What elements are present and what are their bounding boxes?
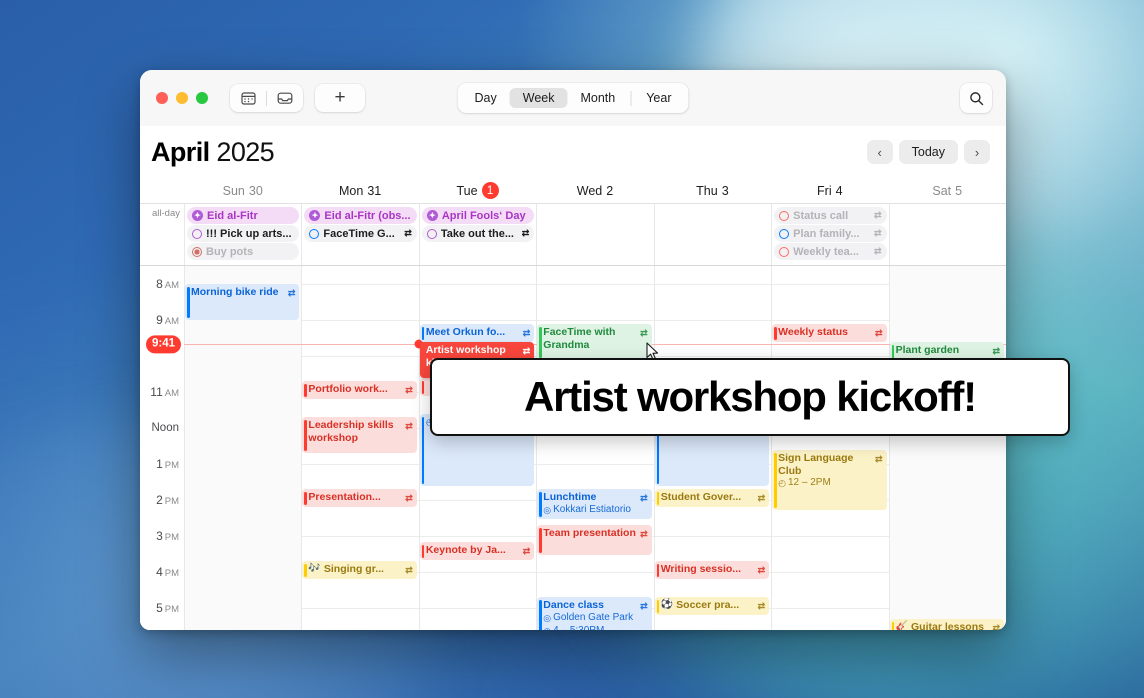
reminder-circle-icon — [427, 229, 437, 239]
event-color-bar — [187, 287, 190, 318]
maximize-button[interactable] — [196, 92, 208, 104]
chip-label: Weekly tea... — [793, 246, 870, 258]
reminder-chip[interactable]: Status call⇄ — [774, 207, 886, 224]
event-title: Weekly status — [778, 326, 872, 339]
calendar-event[interactable]: Leadership skills workshop⇄ — [302, 417, 416, 453]
event-title: Meet Orkun fo... — [426, 326, 520, 339]
new-event-button[interactable]: + — [315, 84, 365, 112]
day-name: Tue — [457, 184, 478, 198]
event-emoji-icon: ⚽ — [661, 599, 673, 612]
calendar-event[interactable]: Dance class⇄◎Golden Gate Park◴4 – 5:30PM — [537, 597, 651, 630]
event-meta: ◎Golden Gate Park — [543, 612, 647, 625]
repeat-icon: ⇄ — [992, 345, 1000, 358]
event-color-bar — [304, 564, 307, 577]
time-grid[interactable]: 8AM9AM11AMNoon1PM2PM3PM4PM5PM 9:41 Morni… — [140, 266, 1006, 630]
chip-label: !!! Pick up arts... — [206, 228, 294, 240]
reminder-circle-icon — [309, 229, 319, 239]
repeat-icon: ⇄ — [404, 228, 412, 239]
window-toolbar: + Day Week Month Year — [140, 70, 1006, 126]
location-pin-icon: ◎ — [543, 504, 551, 517]
calendar-event[interactable]: Writing sessio...⇄ — [655, 561, 769, 579]
chip-label: Status call — [793, 210, 870, 222]
event-title: Dance class — [543, 599, 637, 612]
time-label-meridiem: PM — [165, 604, 179, 615]
page-title: April 2025 — [151, 137, 274, 168]
chip-label: Plan family... — [793, 228, 870, 240]
day-header-fri[interactable]: Fri4 — [771, 178, 888, 203]
day-header-tue[interactable]: Tue1 — [419, 178, 536, 203]
repeat-icon: ⇄ — [523, 327, 531, 340]
day-name: Sun — [223, 184, 245, 198]
clock-icon: ◴ — [543, 625, 551, 631]
event-title: Morning bike ride — [191, 286, 285, 299]
repeat-icon: ⇄ — [992, 622, 1000, 631]
holiday-chip[interactable]: ✦Eid al-Fitr — [187, 207, 299, 224]
event-color-bar — [657, 564, 660, 577]
event-color-bar — [422, 327, 425, 340]
time-label-hour: 9 — [156, 313, 163, 327]
view-day[interactable]: Day — [462, 88, 510, 109]
repeat-icon: ⇄ — [405, 384, 413, 397]
event-color-bar — [774, 327, 777, 340]
event-title: Lunchtime — [543, 491, 637, 504]
clock-icon: ◴ — [778, 477, 786, 490]
repeat-icon: ⇄ — [874, 210, 882, 221]
repeat-icon: ⇄ — [405, 564, 413, 577]
event-title: Sign Language Club — [778, 452, 872, 477]
event-color-bar — [304, 492, 307, 505]
next-week-button[interactable]: › — [964, 140, 990, 164]
repeat-icon: ⇄ — [758, 600, 766, 613]
time-label-meridiem: PM — [165, 532, 179, 543]
event-title: Team presentation — [543, 527, 637, 540]
day-number: 3 — [722, 184, 729, 198]
calendar-event[interactable]: Lunchtime⇄◎Kokkari Estiatorio — [537, 489, 651, 519]
reminder-chip[interactable]: Plan family...⇄ — [774, 225, 886, 242]
repeat-icon: ⇄ — [523, 345, 531, 358]
holiday-star-icon: ✦ — [427, 210, 438, 221]
time-label-meridiem: PM — [165, 496, 179, 507]
traffic-lights — [156, 92, 208, 104]
holiday-chip[interactable]: ✦Eid al-Fitr (obs... — [304, 207, 416, 224]
time-label-meridiem: AM — [165, 280, 179, 291]
time-label-hour: 4 — [156, 565, 163, 579]
calendar-event[interactable]: FaceTime with Grandma⇄ — [537, 324, 651, 360]
location-pin-icon: ◎ — [543, 612, 551, 625]
reminder-circle-icon — [192, 247, 202, 257]
reminder-circle-icon — [779, 211, 789, 221]
calendar-event[interactable]: ⚽Soccer pra...⇄ — [655, 597, 769, 615]
day-number: 31 — [367, 184, 381, 198]
view-month[interactable]: Month — [567, 88, 628, 109]
holiday-star-icon: ✦ — [309, 210, 320, 221]
repeat-icon: ⇄ — [758, 564, 766, 577]
time-label-hour: 3 — [156, 529, 163, 543]
sidebar-toggle-group — [230, 84, 303, 112]
event-color-bar — [422, 545, 425, 558]
prev-week-button[interactable]: ‹ — [867, 140, 893, 164]
day-name: Wed — [577, 184, 602, 198]
day-column-sat[interactable] — [889, 266, 1006, 630]
event-meta: ◎Kokkari Estiatorio — [543, 504, 647, 517]
reminder-circle-icon — [192, 229, 202, 239]
repeat-icon: ⇄ — [640, 327, 648, 340]
all-day-column[interactable]: ✦Eid al-Fitr (obs...FaceTime G...⇄ — [301, 204, 418, 265]
repeat-icon: ⇄ — [875, 327, 883, 340]
header-gutter — [140, 178, 184, 203]
event-color-bar — [892, 622, 895, 631]
event-meta-text: Kokkari Estiatorio — [553, 504, 631, 517]
time-label: 8AM — [156, 277, 179, 291]
calendar-event[interactable]: Keynote by Ja...⇄ — [420, 542, 534, 560]
day-number: 4 — [836, 184, 843, 198]
all-day-column[interactable] — [889, 204, 1006, 265]
time-label-hour: 5 — [156, 601, 163, 615]
time-label-meridiem: AM — [165, 388, 179, 399]
event-color-bar — [422, 417, 425, 484]
view-week[interactable]: Week — [510, 88, 568, 109]
calendar-window: + Day Week Month Year April 2025 ‹ Today… — [140, 70, 1006, 630]
all-day-row: all-day ✦Eid al-Fitr!!! Pick up arts...B… — [140, 204, 1006, 266]
all-day-column[interactable]: Status call⇄Plan family...⇄Weekly tea...… — [771, 204, 888, 265]
event-emoji-icon: 🎶 — [308, 563, 320, 576]
event-color-bar — [304, 420, 307, 451]
holiday-chip[interactable]: ✦April Fools‘ Day — [422, 207, 534, 224]
calendar-icon[interactable] — [230, 85, 266, 111]
today-date-badge: 1 — [482, 182, 499, 199]
reminder-circle-icon — [779, 247, 789, 257]
time-label: 2PM — [156, 493, 179, 507]
reminder-chip[interactable]: Buy pots — [187, 243, 299, 260]
day-number: 5 — [955, 184, 962, 198]
reminder-chip[interactable]: Take out the...⇄ — [422, 225, 534, 242]
time-label-hour: 2 — [156, 493, 163, 507]
title-month: April — [151, 137, 210, 167]
repeat-icon: ⇄ — [522, 228, 530, 239]
view-switcher: Day Week Month Year — [458, 83, 689, 113]
day-name: Fri — [817, 184, 832, 198]
reminder-chip[interactable]: FaceTime G...⇄ — [304, 225, 416, 242]
accessibility-callout: Artist workshop kickoff! — [430, 358, 1070, 436]
repeat-icon: ⇄ — [875, 453, 883, 466]
day-header-sun[interactable]: Sun30 — [184, 178, 301, 203]
chip-label: Eid al-Fitr — [207, 210, 294, 222]
holiday-star-icon: ✦ — [192, 210, 203, 221]
time-label-hour: 8 — [156, 277, 163, 291]
all-day-column[interactable] — [654, 204, 771, 265]
event-color-bar — [539, 528, 542, 553]
repeat-icon: ⇄ — [405, 420, 413, 433]
event-title: Leadership skills workshop — [308, 419, 402, 444]
time-label: 4PM — [156, 565, 179, 579]
date-navigation: ‹ Today › — [867, 140, 990, 164]
view-year[interactable]: Year — [633, 88, 684, 109]
calendar-event[interactable]: Sign Language Club⇄◴12 – 2PM — [772, 450, 886, 510]
day-number: 30 — [249, 184, 263, 198]
day-column-wed[interactable] — [536, 266, 653, 630]
reminder-chip[interactable]: !!! Pick up arts... — [187, 225, 299, 242]
calendar-event[interactable]: Team presentation⇄ — [537, 525, 651, 555]
time-label: Noon — [152, 422, 180, 434]
calendar-event[interactable]: Meet Orkun fo...⇄ — [420, 324, 534, 342]
repeat-icon: ⇄ — [288, 287, 296, 300]
event-color-bar — [539, 600, 542, 631]
today-button[interactable]: Today — [899, 140, 958, 164]
event-title: Soccer pra... — [676, 599, 754, 612]
day-header-row: Sun30Mon31Tue1Wed2Thu3Fri4Sat5 — [140, 178, 1006, 204]
event-title: Student Gover... — [661, 491, 755, 504]
time-label: 5PM — [156, 601, 179, 615]
day-name: Mon — [339, 184, 363, 198]
event-title: Singing gr... — [324, 563, 402, 576]
event-color-bar — [774, 453, 777, 508]
calendar-event[interactable]: Student Gover...⇄ — [655, 489, 769, 507]
day-header-mon[interactable]: Mon31 — [301, 178, 418, 203]
time-label: 9AM — [156, 313, 179, 327]
day-header-wed[interactable]: Wed2 — [536, 178, 653, 203]
time-label: 1PM — [156, 457, 179, 471]
day-number: 2 — [606, 184, 613, 198]
view-divider — [630, 91, 631, 106]
calendar-event[interactable]: Weekly status⇄ — [772, 324, 886, 342]
event-title: Keynote by Ja... — [426, 544, 520, 557]
reminder-chip[interactable]: Weekly tea...⇄ — [774, 243, 886, 260]
event-color-bar — [539, 492, 542, 517]
event-color-bar — [657, 600, 660, 613]
event-title: Guitar lessons with S — [911, 621, 989, 630]
event-meta-text: Golden Gate Park — [553, 612, 633, 625]
event-title: Writing sessio... — [661, 563, 755, 576]
event-meta: ◴12 – 2PM — [778, 477, 882, 490]
repeat-icon: ⇄ — [640, 600, 648, 613]
repeat-icon: ⇄ — [405, 492, 413, 505]
time-label-meridiem: PM — [165, 460, 179, 471]
time-label-meridiem: AM — [165, 316, 179, 327]
calendar-event[interactable]: Presentation...⇄ — [302, 489, 416, 507]
time-gutter: 8AM9AM11AMNoon1PM2PM3PM4PM5PM — [140, 266, 184, 630]
all-day-label: all-day — [140, 204, 184, 265]
time-label-hour: 11 — [150, 385, 162, 399]
chip-label: Buy pots — [206, 246, 294, 258]
event-title: Plant garden — [896, 344, 990, 357]
inbox-icon[interactable] — [267, 85, 303, 111]
repeat-icon: ⇄ — [640, 492, 648, 505]
time-label-hour: Noon — [152, 422, 180, 434]
event-emoji-icon: 🎸 — [896, 621, 908, 630]
repeat-icon: ⇄ — [523, 545, 531, 558]
event-title: Portfolio work... — [308, 383, 402, 396]
event-color-bar — [304, 384, 307, 397]
close-button[interactable] — [156, 92, 168, 104]
repeat-icon: ⇄ — [758, 492, 766, 505]
event-meta: ◴4 – 5:30PM — [543, 625, 647, 631]
minimize-button[interactable] — [176, 92, 188, 104]
chip-label: April Fools‘ Day — [442, 210, 529, 222]
calendar-event[interactable]: 🎶Singing gr...⇄ — [302, 561, 416, 579]
event-meta-text: 4 – 5:30PM — [553, 625, 604, 631]
title-year: 2025 — [216, 137, 274, 167]
day-header-thu[interactable]: Thu3 — [654, 178, 771, 203]
day-column-fri[interactable] — [771, 266, 888, 630]
chip-label: Eid al-Fitr (obs... — [324, 210, 411, 222]
calendar-event[interactable]: Morning bike ride⇄ — [185, 284, 299, 320]
event-title: Presentation... — [308, 491, 402, 504]
event-color-bar — [657, 492, 660, 505]
calendar-event[interactable]: 🎸Guitar lessons with S⇄ — [890, 619, 1004, 630]
repeat-icon: ⇄ — [874, 228, 882, 239]
all-day-column[interactable]: ✦April Fools‘ DayTake out the...⇄ — [419, 204, 536, 265]
chip-label: Take out the... — [441, 228, 518, 240]
event-color-bar — [422, 381, 425, 394]
event-color-bar — [539, 327, 542, 358]
repeat-icon: ⇄ — [874, 246, 882, 257]
all-day-column[interactable]: ✦Eid al-Fitr!!! Pick up arts...Buy pots — [184, 204, 301, 265]
all-day-column[interactable] — [536, 204, 653, 265]
day-name: Sat — [932, 184, 951, 198]
time-label: 11AM — [150, 385, 179, 399]
current-time-badge: 9:41 — [146, 336, 181, 353]
event-title: FaceTime with Grandma — [543, 326, 637, 351]
time-label-meridiem: PM — [165, 568, 179, 579]
title-row: April 2025 ‹ Today › — [140, 126, 1006, 178]
day-header-sat[interactable]: Sat5 — [889, 178, 1006, 203]
time-label: 3PM — [156, 529, 179, 543]
calendar-event[interactable]: Portfolio work...⇄ — [302, 381, 416, 399]
search-icon[interactable] — [960, 83, 992, 113]
event-meta-text: 12 – 2PM — [788, 477, 831, 490]
repeat-icon: ⇄ — [640, 528, 648, 541]
chip-label: FaceTime G... — [323, 228, 400, 240]
day-name: Thu — [696, 184, 718, 198]
reminder-circle-icon — [779, 229, 789, 239]
day-column-sun[interactable] — [184, 266, 301, 630]
time-label-hour: 1 — [156, 457, 163, 471]
